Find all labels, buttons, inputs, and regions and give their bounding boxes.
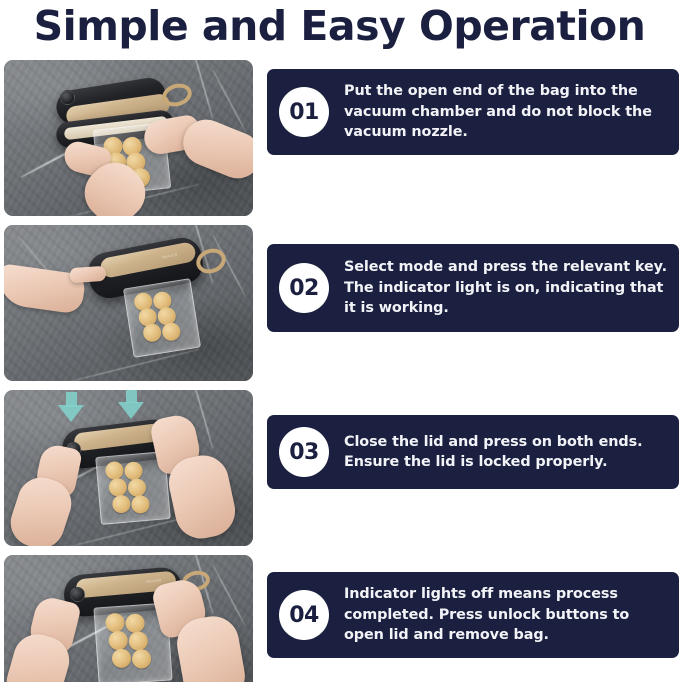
- step-photo-03: [4, 390, 253, 546]
- step-description: Put the open end of the bag into the vac…: [344, 81, 679, 143]
- biscuit: [108, 630, 128, 650]
- biscuit: [105, 461, 125, 481]
- step-info-panel-01: 01 Put the open end of the bag into the …: [267, 69, 679, 155]
- step-number-badge: 04: [279, 590, 329, 640]
- step-description: Select mode and press the relevant key. …: [344, 257, 679, 319]
- biscuit: [111, 648, 131, 668]
- biscuit: [131, 495, 151, 515]
- operation-instructions-page: Simple and Easy Operation: [0, 0, 679, 682]
- biscuit: [127, 478, 147, 498]
- steps-list: 01 Put the open end of the bag into the …: [0, 60, 679, 682]
- press-down-arrow-icon: [58, 405, 84, 422]
- press-down-arrow-icon: [118, 402, 144, 419]
- step-description: Indicator lights off means process compl…: [344, 584, 679, 646]
- step-row: SEALER 04 I: [0, 555, 679, 682]
- step-number-badge: 02: [279, 263, 329, 313]
- biscuit: [112, 494, 132, 514]
- sealer-knob: [70, 587, 85, 602]
- biscuit: [108, 478, 128, 498]
- biscuit: [161, 321, 182, 342]
- step-info-panel-03: 03 Close the lid and press on both ends.…: [267, 415, 679, 489]
- biscuit: [142, 322, 163, 343]
- step-photo-02: SEALER: [4, 225, 253, 381]
- biscuit: [105, 613, 125, 633]
- step-row: 01 Put the open end of the bag into the …: [0, 60, 679, 216]
- biscuit: [124, 461, 144, 481]
- step-photo-04: SEALER: [4, 555, 253, 682]
- step-photo-01: [4, 60, 253, 216]
- sealer-knob: [60, 90, 75, 105]
- step-info-panel-02: 02 Select mode and press the relevant ke…: [267, 244, 679, 332]
- biscuit-bag: [123, 278, 201, 358]
- step-row: SEALER 02 Select mode and press the re: [0, 225, 679, 381]
- biscuit: [131, 649, 151, 669]
- index-finger: [70, 266, 107, 283]
- step-description: Close the lid and press on both ends. En…: [344, 432, 679, 473]
- step-number-badge: 03: [279, 427, 329, 477]
- step-row: 03 Close the lid and press on both ends.…: [0, 390, 679, 546]
- page-title: Simple and Easy Operation: [0, 2, 679, 50]
- step-info-panel-04: 04 Indicator lights off means process co…: [267, 572, 679, 658]
- biscuit: [125, 613, 145, 633]
- step-number-badge: 01: [279, 87, 329, 137]
- biscuit: [128, 631, 148, 651]
